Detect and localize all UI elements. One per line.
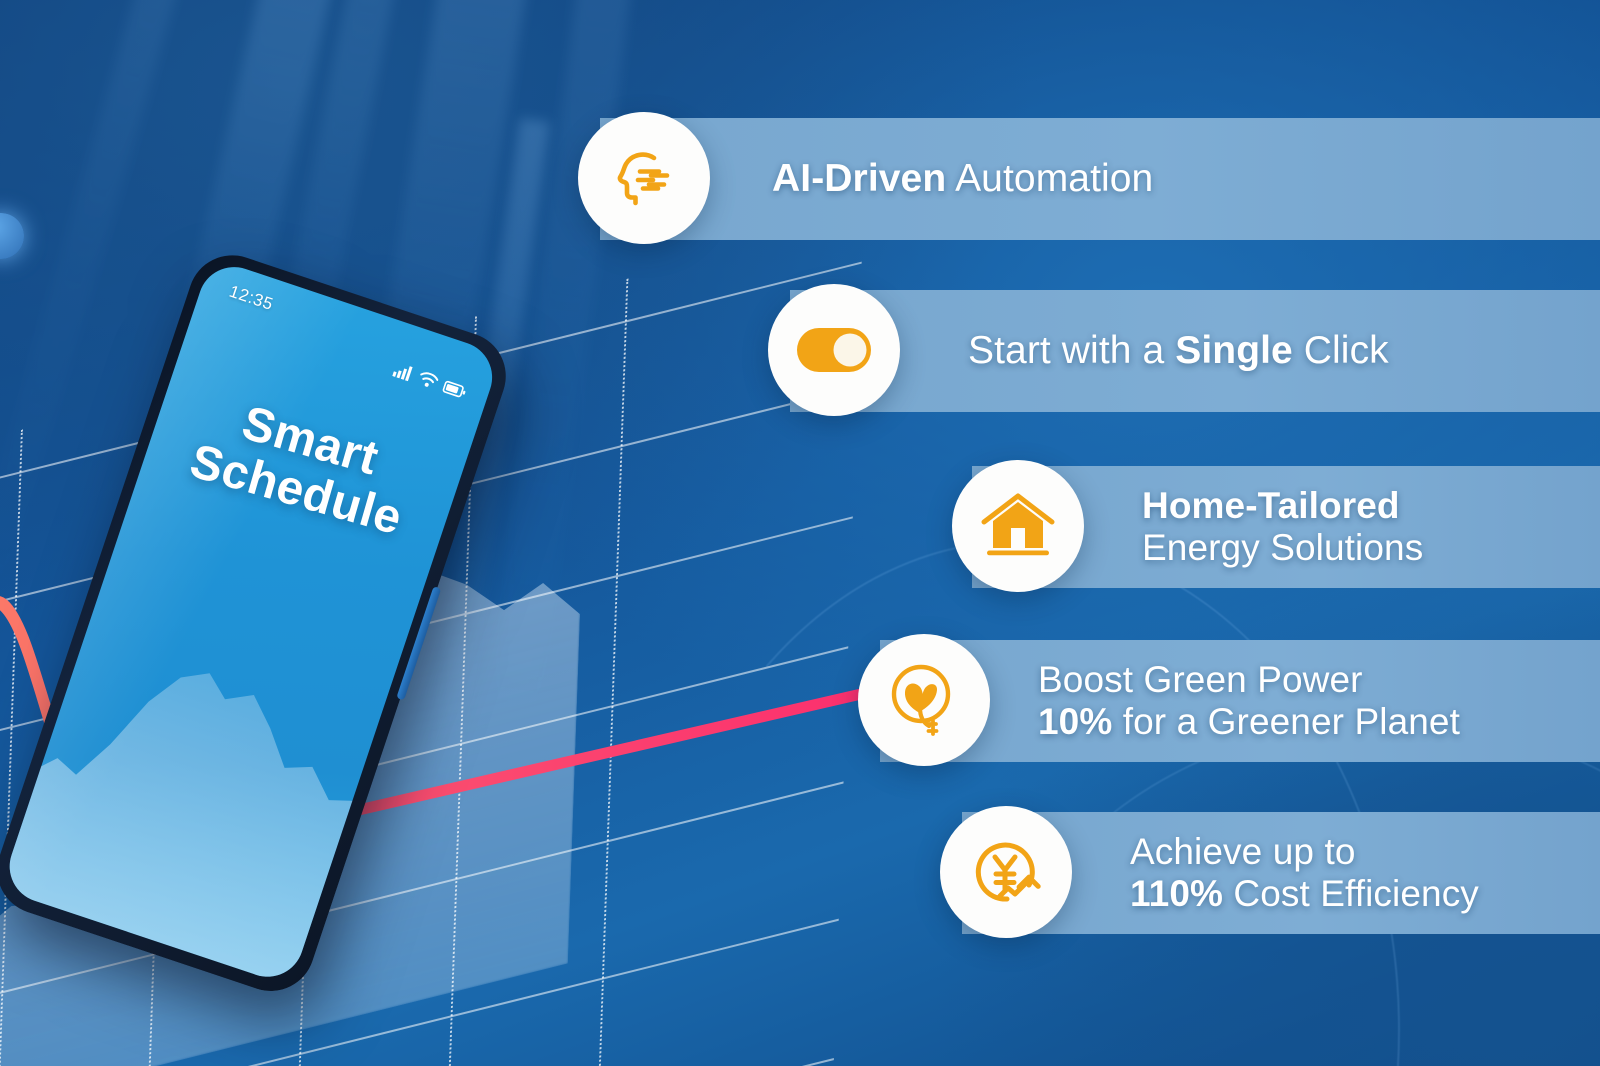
feature-row-ai-driven-automation[interactable]: AI-Driven Automation — [600, 118, 1600, 240]
feature-text-bold: 10% — [1038, 701, 1112, 742]
toggle-on-icon — [795, 326, 873, 374]
leaf-plug-icon — [886, 661, 962, 739]
feature-line: 110% Cost Efficiency — [1130, 873, 1479, 915]
ai-head-icon — [607, 141, 681, 215]
ai-head-icon-badge[interactable] — [578, 112, 710, 244]
feature-line: Energy Solutions — [1142, 527, 1423, 569]
leaf-plug-icon-badge[interactable] — [858, 634, 990, 766]
feature-line: AI-Driven Automation — [772, 156, 1153, 201]
feature-text-regular: Start with a — [968, 329, 1175, 372]
feature-text-regular: Achieve up to — [1130, 831, 1356, 872]
feature-text-bold: Home-Tailored — [1142, 485, 1400, 526]
feature-text-regular: Automation — [946, 157, 1153, 200]
house-icon — [980, 491, 1056, 561]
house-icon-badge[interactable] — [952, 460, 1084, 592]
feature-line: Achieve up to — [1130, 831, 1479, 873]
feature-text-bold: AI-Driven — [772, 157, 946, 200]
feature-text-regular: Energy Solutions — [1142, 527, 1423, 568]
feature-line: Home-Tailored — [1142, 485, 1423, 527]
toggle-on-icon-badge[interactable] — [768, 284, 900, 416]
feature-label-boost-green-power: Boost Green Power 10% for a Greener Plan… — [1038, 659, 1460, 743]
feature-line: Boost Green Power — [1038, 659, 1460, 701]
feature-text-regular: Click — [1293, 329, 1389, 372]
feature-text-bold: 110% — [1130, 873, 1223, 914]
feature-label-ai-driven-automation: AI-Driven Automation — [772, 156, 1153, 201]
yen-growth-icon — [967, 833, 1045, 911]
infographic-canvas: 12:35 — [0, 0, 1600, 1066]
feature-row-single-click[interactable]: Start with a Single Click — [790, 290, 1600, 412]
feature-text-bold: Single — [1175, 329, 1293, 372]
feature-text-regular: Cost Efficiency — [1223, 873, 1479, 914]
feature-line: Start with a Single Click — [968, 328, 1389, 373]
feature-label-cost-efficiency: Achieve up to 110% Cost Efficiency — [1130, 831, 1479, 915]
feature-list: AI-Driven Automation Start with a — [0, 0, 1600, 1066]
feature-text-regular: Boost Green Power — [1038, 659, 1363, 700]
feature-text-regular: for a Greener Planet — [1112, 701, 1460, 742]
feature-label-home-tailored-energy: Home-Tailored Energy Solutions — [1142, 485, 1423, 569]
feature-line: 10% for a Greener Planet — [1038, 701, 1460, 743]
feature-label-single-click: Start with a Single Click — [968, 328, 1389, 373]
yen-growth-icon-badge[interactable] — [940, 806, 1072, 938]
